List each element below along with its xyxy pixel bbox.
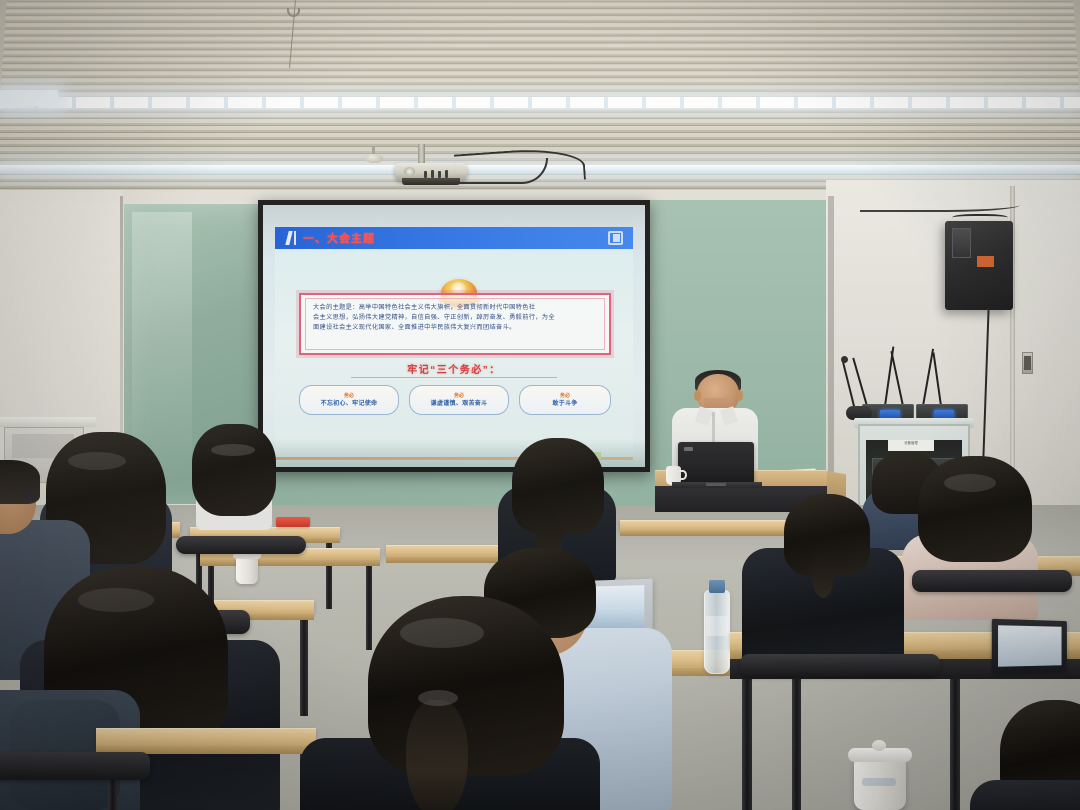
must-box-2: 务必 谦虚谨慎、艰苦奋斗 bbox=[409, 385, 509, 415]
red-book bbox=[276, 517, 310, 527]
microphone-head-icon bbox=[841, 356, 848, 363]
side-counter-top bbox=[0, 417, 96, 427]
projector-cable-2 bbox=[452, 158, 548, 184]
slide-body-line-2: 会主义思想，弘扬伟大建党精神，自信自强、守正创新，踔厉奋发、勇毅前行，为全 bbox=[313, 313, 597, 323]
attendee-back-left-hair bbox=[192, 424, 276, 516]
ceiling-light-edge bbox=[0, 90, 58, 106]
desk-leg bbox=[742, 679, 752, 810]
speaker-driver-panel bbox=[952, 228, 971, 258]
hair-highlight bbox=[78, 588, 154, 612]
attendee-right-pink-hair bbox=[918, 456, 1032, 562]
tea-cup-front-decor bbox=[862, 778, 896, 786]
projected-slide: 一、大会主题 大会的主题是：高举中国特色社会主义伟大旗帜，全面贯彻新时代中国特色… bbox=[263, 205, 645, 467]
tea-cup-lidded bbox=[236, 556, 258, 584]
presenter-ear-right bbox=[736, 390, 743, 401]
hair-highlight bbox=[944, 474, 996, 492]
hair-highlight bbox=[68, 452, 126, 470]
bottle-label bbox=[706, 616, 728, 636]
must-box-3-text: 敢于斗争 bbox=[552, 400, 577, 408]
desk-leg bbox=[300, 620, 308, 716]
mug-handle bbox=[679, 470, 687, 480]
must-box-2-text: 谦虚谨慎、艰苦奋斗 bbox=[431, 400, 488, 408]
desk-leg bbox=[950, 679, 960, 810]
must-box-1-prefix: 务必 bbox=[344, 393, 354, 400]
projector-knob bbox=[431, 170, 434, 178]
tea-cup-front-knob bbox=[872, 740, 886, 751]
bottle-cap bbox=[709, 580, 725, 593]
projector-lens-icon bbox=[404, 167, 415, 176]
projector-knob bbox=[424, 171, 427, 178]
attendee-right-dark-ponytail bbox=[812, 552, 834, 598]
speaker-label-sticker bbox=[977, 256, 994, 267]
desk-mid-center-edge bbox=[200, 560, 380, 566]
laptop-dark-screen bbox=[998, 625, 1062, 667]
projection-screen: 一、大会主题 大会的主题是：高举中国特色社会主义伟大旗帜，全面贯彻新时代中国特色… bbox=[258, 200, 650, 472]
glasses-icon bbox=[22, 492, 38, 500]
desk-leg bbox=[792, 676, 801, 810]
must-box-3-prefix: 务必 bbox=[560, 393, 570, 400]
attendee-far-right-torso bbox=[970, 780, 1080, 810]
chair-back bbox=[740, 654, 940, 676]
must-box-1: 务必 不忘初心、牢记使命 bbox=[299, 385, 399, 415]
slide-theme-box: 大会的主题是：高举中国特色社会主义伟大旗帜，全面贯彻新时代中国特色社 会主义思想… bbox=[299, 293, 611, 355]
smoke-detector-icon bbox=[365, 154, 383, 163]
presenter-ear-left bbox=[694, 390, 701, 401]
hair-highlight bbox=[211, 444, 255, 456]
chair-back bbox=[0, 752, 150, 780]
ponytail-tie bbox=[418, 690, 458, 706]
projector-knob bbox=[438, 171, 441, 178]
slide-title-text: 一、大会主题 bbox=[303, 230, 375, 246]
slide-body: 大会的主题是：高举中国特色社会主义伟大旗帜，全面贯彻新时代中国特色社 会主义思想… bbox=[275, 249, 633, 457]
slide-body-line-3: 面建设社会主义现代化国家、全面推进中华民族伟大复兴而团结奋斗。 bbox=[313, 323, 597, 333]
wall-edge-shadow bbox=[828, 196, 834, 516]
desk-leg bbox=[366, 566, 372, 650]
hair-highlight bbox=[400, 618, 484, 648]
chair-back bbox=[912, 570, 1072, 592]
must-box-1-text: 不忘初心、牢记使命 bbox=[321, 400, 378, 408]
slide-body-line-1: 大会的主题是：高举中国特色社会主义伟大旗帜，全面贯彻新时代中国特色社 bbox=[313, 303, 597, 313]
title-accent-bar bbox=[294, 231, 296, 245]
classroom-photo: 一、大会主题 大会的主题是：高举中国特色社会主义伟大旗帜，全面贯彻新时代中国特色… bbox=[0, 0, 1080, 810]
must-box-3: 务必 敢于斗争 bbox=[519, 385, 611, 415]
ceiling-cable-right bbox=[860, 198, 1020, 212]
slide-divider bbox=[351, 377, 557, 378]
attendee-center-front-ponytail bbox=[406, 700, 468, 810]
title-accent-mark bbox=[285, 231, 292, 245]
ceiling-light-strip-1 bbox=[0, 97, 1080, 108]
wall-outlet-slot bbox=[1024, 356, 1031, 370]
chair-back bbox=[176, 536, 306, 554]
rack-label-text: 设备管理 bbox=[889, 441, 933, 445]
must-box-2-prefix: 务必 bbox=[454, 393, 464, 400]
laptop-logo-icon bbox=[684, 447, 693, 451]
attendee-center-dark-hair bbox=[512, 438, 604, 534]
slide-logo-inner bbox=[613, 234, 620, 242]
desk-front-left-top bbox=[96, 728, 316, 746]
slide-section-heading: 牢记“三个务必”： bbox=[275, 361, 633, 376]
screen-glare bbox=[263, 205, 645, 227]
slide-title-bar: 一、大会主题 bbox=[275, 227, 633, 249]
slide-theme-inner: 大会的主题是：高举中国特色社会主义伟大旗帜，全面贯彻新时代中国特色社 会主义思想… bbox=[305, 298, 605, 350]
laptop-trackpad bbox=[706, 483, 726, 486]
projector-knob bbox=[445, 170, 448, 178]
